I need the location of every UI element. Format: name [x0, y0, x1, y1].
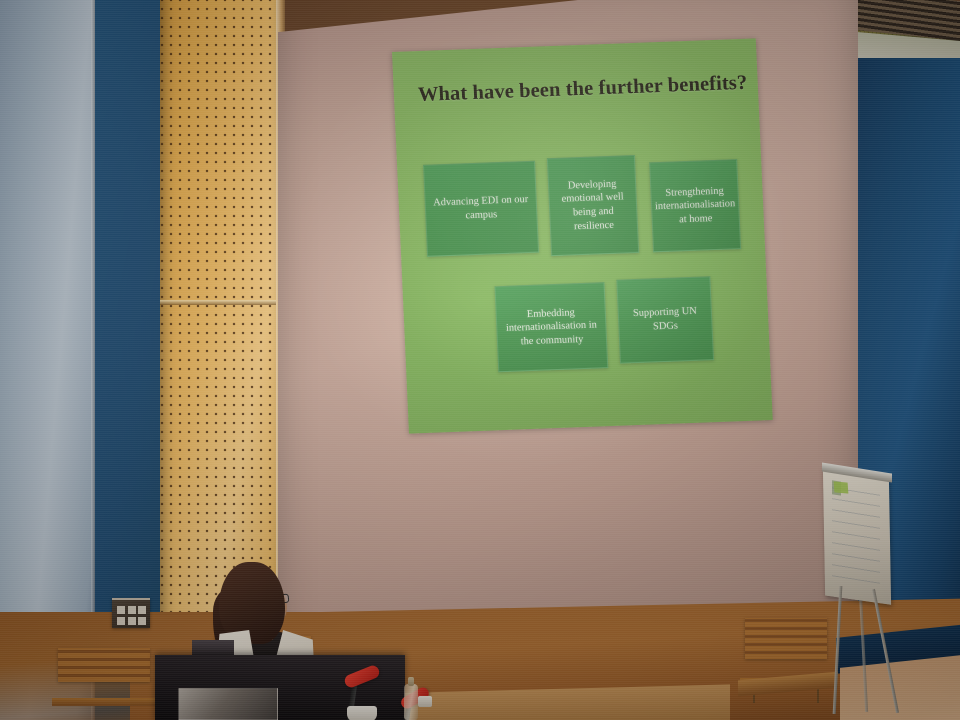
benefit-box-3-label: Strengthening internationalisation at ho… — [654, 184, 736, 228]
bottle-cap — [418, 696, 432, 707]
flipchart-easel — [818, 466, 928, 720]
projected-slide: What have been the further benefits? Adv… — [392, 38, 778, 451]
slide-surface: What have been the further benefits? Adv… — [392, 38, 773, 433]
chair-left — [58, 648, 150, 706]
light-switch-5[interactable] — [128, 617, 136, 625]
slide-benefit-boxes: Advancing EDI on our campus Developing e… — [392, 38, 773, 433]
light-switch-2[interactable] — [128, 606, 136, 614]
benefit-box-1: Advancing EDI on our campus — [423, 161, 539, 257]
chair-back — [745, 618, 827, 659]
benefit-box-4: Embedding internationalisation in the co… — [495, 282, 609, 372]
benefit-box-2: Developing emotional well being and resi… — [547, 155, 639, 256]
flipchart-writing — [832, 480, 880, 584]
presenter-hair — [219, 562, 285, 644]
wall-switch-plate[interactable] — [112, 598, 150, 628]
monitor-label-sticker — [178, 688, 278, 720]
benefit-box-2-label: Developing emotional well being and resi… — [554, 177, 632, 234]
easel-leg-rear — [859, 592, 868, 712]
light-switch-1[interactable] — [117, 606, 125, 614]
light-switch-3[interactable] — [138, 606, 146, 614]
acoustic-panel-seam — [160, 300, 278, 305]
room-scene: What have been the further benefits? Adv… — [0, 0, 960, 720]
flipchart-sticky-note — [834, 481, 849, 493]
benefit-box-5: Supporting UN SDGs — [616, 276, 714, 363]
chair-seat — [52, 698, 155, 706]
drinking-cup — [347, 706, 377, 720]
light-switch-6[interactable] — [138, 617, 146, 625]
water-bottle — [404, 684, 418, 720]
easel-leg-left — [833, 586, 843, 714]
benefit-box-5-label: Supporting UN SDGs — [624, 305, 707, 335]
benefit-box-3: Strengthening internationalisation at ho… — [649, 159, 741, 252]
easel-leg-right — [872, 589, 899, 713]
benefit-box-4-label: Embedding internationalisation in the co… — [502, 305, 602, 349]
benefit-box-1-label: Advancing EDI on our campus — [430, 193, 531, 224]
chair-back — [58, 648, 150, 682]
light-switch-4[interactable] — [117, 617, 125, 625]
